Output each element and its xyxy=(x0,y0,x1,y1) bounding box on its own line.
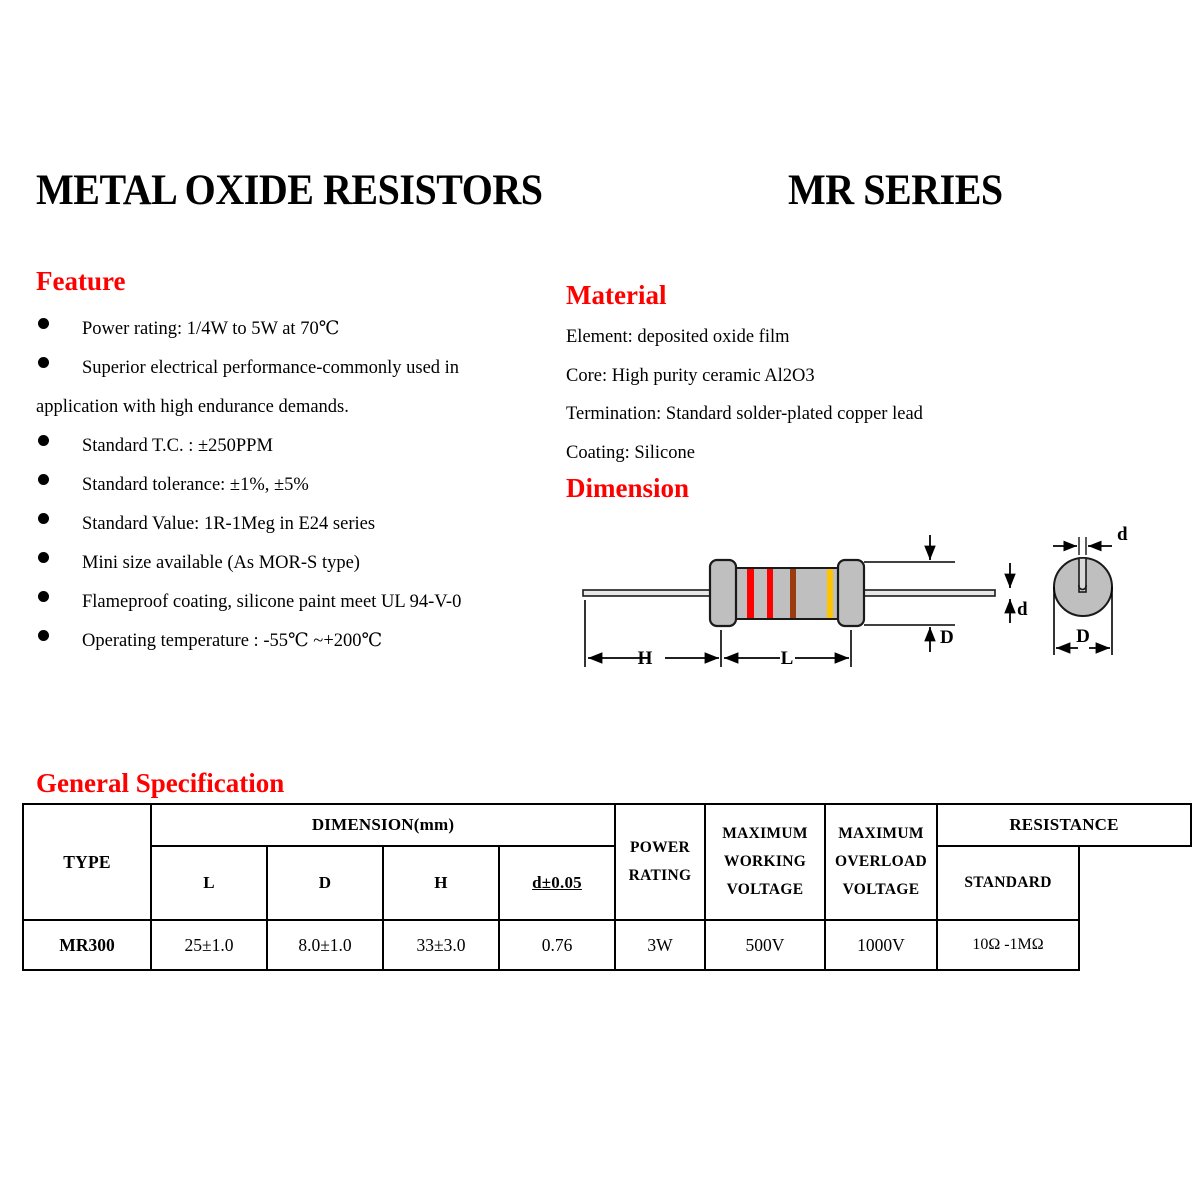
bullet-icon xyxy=(38,513,49,524)
l-label: L xyxy=(781,648,794,669)
material-item: Core: High purity ceramic Al2O3 xyxy=(566,357,1036,396)
resistor-dimension-drawing: D d H L d D xyxy=(555,515,1195,695)
right-end-cap xyxy=(838,560,864,626)
general-specification-table: TYPE DIMENSION(mm) POWER RATING MAXIMUM … xyxy=(22,803,1192,971)
list-item: Standard T.C. : ±250PPM xyxy=(36,427,536,466)
cell-d-tolerance: 0.76 xyxy=(499,920,615,970)
bullet-icon xyxy=(38,435,49,446)
header-power-rating: POWER RATING xyxy=(615,804,705,920)
material-item: Coating: Silicone xyxy=(566,434,1036,473)
page-title: METAL OXIDE RESISTORS xyxy=(36,166,543,215)
table-header-row-1: TYPE DIMENSION(mm) POWER RATING MAXIMUM … xyxy=(23,804,1191,846)
header-d: D xyxy=(267,846,383,920)
resistor-body xyxy=(730,568,843,619)
general-specification-heading: General Specification xyxy=(36,768,284,799)
header-dimension-group: DIMENSION(mm) xyxy=(151,804,615,846)
feature-item-text: Mini size available (As MOR-S type) xyxy=(82,553,360,573)
end-small-d-label: d xyxy=(1117,524,1128,545)
feature-item-text: Power rating: 1/4W to 5W at 70℃ xyxy=(82,319,339,339)
list-item: Standard tolerance: ±1%, ±5% xyxy=(36,466,536,505)
bullet-icon xyxy=(38,630,49,641)
cell-h: 33±3.0 xyxy=(383,920,499,970)
feature-item-text: Standard T.C. : ±250PPM xyxy=(82,436,273,456)
feature-item-text: Standard tolerance: ±1%, ±5% xyxy=(82,475,309,495)
dimension-heading: Dimension xyxy=(566,473,689,504)
cell-resistance-empty xyxy=(1079,920,1191,970)
material-heading: Material xyxy=(566,280,666,311)
material-list: Element: deposited oxide film Core: High… xyxy=(566,318,1036,472)
header-d-tolerance: d±0.05 xyxy=(499,846,615,920)
header-max-working-voltage: MAXIMUM WORKING VOLTAGE xyxy=(705,804,825,920)
cell-max-overload-voltage: 1000V xyxy=(825,920,937,970)
cell-power-rating: 3W xyxy=(615,920,705,970)
list-item: Superior electrical performance-commonly… xyxy=(36,349,536,427)
list-item: Flameproof coating, silicone paint meet … xyxy=(36,583,536,622)
feature-item-text: Standard Value: 1R-1Meg in E24 series xyxy=(82,514,375,534)
feature-list: Power rating: 1/4W to 5W at 70℃ Superior… xyxy=(36,310,536,661)
material-item: Termination: Standard solder-plated copp… xyxy=(566,395,1036,434)
small-d-label: d xyxy=(1017,599,1028,620)
end-D-label: D xyxy=(1076,626,1090,647)
table-header-row-2: L D H d±0.05 STANDARD xyxy=(23,846,1191,920)
table-row: MR300 25±1.0 8.0±1.0 33±3.0 0.76 3W 500V… xyxy=(23,920,1191,970)
feature-item-text: Superior electrical performance-commonly… xyxy=(36,358,459,417)
header-l: L xyxy=(151,846,267,920)
bullet-icon xyxy=(38,318,49,329)
cell-resistance-standard: 10Ω -1MΩ xyxy=(937,920,1079,970)
header-max-overload-voltage: MAXIMUM OVERLOAD VOLTAGE xyxy=(825,804,937,920)
bullet-icon xyxy=(38,591,49,602)
cell-d: 8.0±1.0 xyxy=(267,920,383,970)
color-band-4 xyxy=(827,569,833,618)
list-item: Standard Value: 1R-1Meg in E24 series xyxy=(36,505,536,544)
list-item: Operating temperature : -55℃ ~+200℃ xyxy=(36,622,536,661)
list-item: Mini size available (As MOR-S type) xyxy=(36,544,536,583)
left-lead xyxy=(583,590,713,596)
header-resistance-group: RESISTANCE xyxy=(937,804,1191,846)
color-band-3 xyxy=(790,569,796,618)
right-lead xyxy=(855,590,995,596)
h-label: H xyxy=(638,648,653,669)
color-band-1 xyxy=(747,569,754,618)
feature-item-text: Flameproof coating, silicone paint meet … xyxy=(82,592,461,612)
series-title: MR SERIES xyxy=(788,166,1003,215)
bullet-icon xyxy=(38,357,49,368)
material-item: Element: deposited oxide film xyxy=(566,318,1036,357)
bullet-icon xyxy=(38,474,49,485)
header-h: H xyxy=(383,846,499,920)
end-view-lead xyxy=(1079,558,1086,592)
left-end-cap xyxy=(710,560,736,626)
d-upper-label: D xyxy=(940,627,954,648)
list-item: Power rating: 1/4W to 5W at 70℃ xyxy=(36,310,536,349)
cell-max-working-voltage: 500V xyxy=(705,920,825,970)
bullet-icon xyxy=(38,552,49,563)
cell-l: 25±1.0 xyxy=(151,920,267,970)
color-band-2 xyxy=(767,569,773,618)
cell-type: MR300 xyxy=(23,920,151,970)
datasheet-page: METAL OXIDE RESISTORS MR SERIES Feature … xyxy=(0,0,1200,1200)
header-resistance-empty xyxy=(1079,846,1191,920)
header-type: TYPE xyxy=(23,804,151,920)
feature-item-text: Operating temperature : -55℃ ~+200℃ xyxy=(82,631,382,651)
feature-heading: Feature xyxy=(36,266,125,297)
header-resistance-standard: STANDARD xyxy=(937,846,1079,920)
